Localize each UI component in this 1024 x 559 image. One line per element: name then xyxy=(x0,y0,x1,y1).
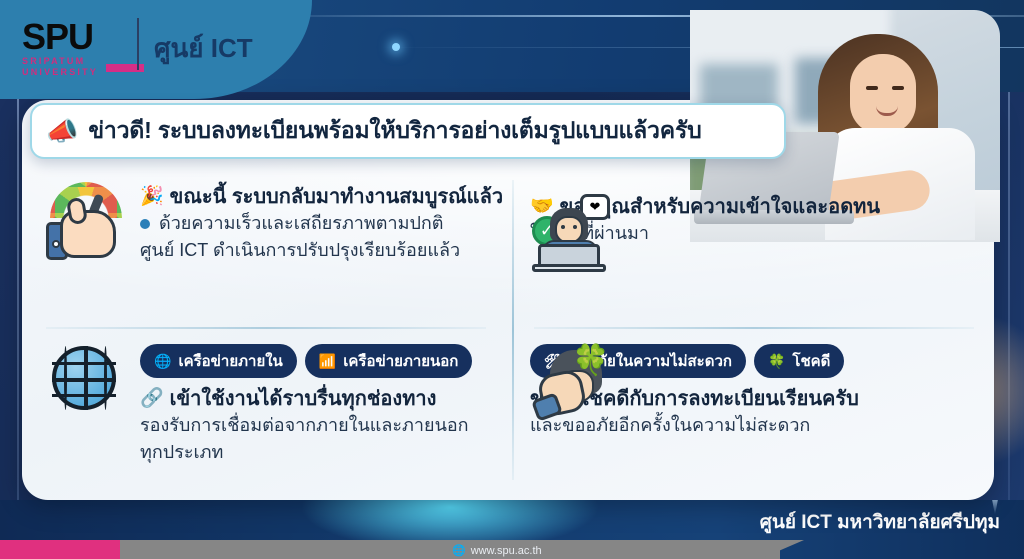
link-icon: 🔗 xyxy=(140,386,164,412)
thumbs-up-gauge-icon xyxy=(46,180,128,268)
megaphone-icon: 📣 xyxy=(46,118,78,144)
photo-face xyxy=(850,54,916,134)
banner-glow-dot xyxy=(392,43,400,51)
quadrant-body: 🌐 เครือข่ายภายใน 📶 เครือข่ายภายนอก 🔗 เข้… xyxy=(140,340,516,466)
horizontal-divider-left xyxy=(46,327,486,329)
quadrant-lead-text: เข้าใช้งานได้ราบรื่นทุกช่องทาง xyxy=(170,386,437,412)
globe-sphere xyxy=(52,346,116,410)
headline-banner: 📣 ข่าวดี! ระบบลงทะเบียนพร้อมให้บริการอย่… xyxy=(30,103,786,159)
quadrant-lead-text: ขณะนี้ ระบบกลับมาทำงานสมบูรณ์แล้ว xyxy=(170,184,503,210)
pill-internal-network-label: เครือข่ายภายใน xyxy=(178,349,282,373)
globe-parallel xyxy=(52,362,116,365)
quadrant-line-2: รองรับการเชื่อมต่อจากภายในและภายนอก xyxy=(140,412,516,439)
person-eyes xyxy=(561,225,565,229)
photo-eye-right xyxy=(892,86,904,90)
poster-canvas: SPU SRIPATUM UNIVERSITY ศูนย์ ICT 📣 ข่าว… xyxy=(0,0,1024,559)
quadrant-line-3: ศูนย์ ICT ดำเนินการปรับปรุงเรียบร้อยแล้ว xyxy=(140,237,506,264)
globe-meridian xyxy=(64,346,67,410)
wifi-pill-icon: 📶 xyxy=(319,354,336,368)
spu-logo: SPU SRIPATUM UNIVERSITY ศูนย์ ICT xyxy=(22,20,98,78)
party-popper-icon: 🎉 xyxy=(140,184,164,210)
bullet-dot-icon xyxy=(140,219,150,229)
footer-band: 🌐 www.spu.ac.th ศูนย์ ICT มหาวิทยาลัยศรี… xyxy=(0,500,1024,559)
pill-external-network[interactable]: 📶 เครือข่ายภายนอก xyxy=(305,344,473,378)
horizontal-divider-right xyxy=(534,327,974,329)
logo-subtitle-line1: SRIPATUM xyxy=(22,56,98,67)
quadrant-network-access: 🌐 เครือข่ายภายใน 📶 เครือข่ายภายนอก 🔗 เข้… xyxy=(46,340,516,466)
pill-external-network-label: เครือข่ายภายนอก xyxy=(343,349,458,373)
facepalm-clover-icon: 🍀 xyxy=(534,344,612,420)
footer-website-label: www.spu.ac.th xyxy=(471,545,542,557)
pill-good-luck[interactable]: 🍀 โชคดี xyxy=(754,344,844,378)
quadrant-line-3: ทุกประเภท xyxy=(140,439,516,466)
cuff-button xyxy=(52,240,60,248)
globe-icon xyxy=(46,340,128,428)
logo-subtitle-line2: UNIVERSITY xyxy=(22,67,98,78)
quadrant-lead-line: 🔗 เข้าใช้งานได้ราบรื่นทุกช่องทาง xyxy=(140,386,516,412)
footer-gray-segment xyxy=(120,540,780,559)
person-face xyxy=(555,216,583,243)
quadrant-body: 🎉 ขณะนี้ ระบบกลับมาทำงานสมบูรณ์แล้ว ด้วย… xyxy=(140,180,506,268)
person-laptop-base xyxy=(532,264,606,272)
photo-eye-left xyxy=(866,86,878,90)
four-leaf-clover-icon: 🍀 xyxy=(572,346,609,376)
footer-pink-segment xyxy=(0,540,120,559)
logo-divider xyxy=(137,18,139,70)
footer-org-label: ศูนย์ ICT มหาวิทยาลัยศรีปทุม xyxy=(760,507,1000,537)
info-grid: 🎉 ขณะนี้ ระบบกลับมาทำงานสมบูรณ์แล้ว ด้วย… xyxy=(22,172,994,497)
quadrant-thank-you: ✓ ❤ 🤝 ขอบคุณสำหรับความเข้าใจและอดทน ในช่… xyxy=(530,190,1000,247)
quadrant-line-2-text: ด้วยความเร็วและเสถียรภาพตามปกติ xyxy=(159,210,443,237)
quadrant-lead-line: 🎉 ขณะนี้ ระบบกลับมาทำงานสมบูรณ์แล้ว xyxy=(140,184,506,210)
logo-wordmark: SPU xyxy=(22,20,98,54)
globe-pill-icon: 🌐 xyxy=(154,354,171,368)
network-pill-row: 🌐 เครือข่ายภายใน 📶 เครือข่ายภายนอก xyxy=(140,344,516,378)
pill-internal-network[interactable]: 🌐 เครือข่ายภายใน xyxy=(140,344,297,378)
globe-icon: 🌐 xyxy=(452,544,466,557)
person-laptop-check-icon: ✓ ❤ xyxy=(532,194,610,274)
footer-website[interactable]: 🌐 www.spu.ac.th xyxy=(452,544,542,557)
pill-good-luck-label: โชคดี xyxy=(792,349,830,373)
logo-subtitle: SRIPATUM UNIVERSITY xyxy=(22,56,98,78)
quadrant-system-restored: 🎉 ขณะนี้ ระบบกลับมาทำงานสมบูรณ์แล้ว ด้วย… xyxy=(46,180,506,268)
quadrant-line-2: ด้วยความเร็วและเสถียรภาพตามปกติ xyxy=(140,210,506,237)
headline-text: ข่าวดี! ระบบลงทะเบียนพร้อมให้บริการอย่าง… xyxy=(88,113,701,149)
clover-pill-icon: 🍀 xyxy=(768,354,785,368)
quadrant-apology-goodluck: 🍀 🛠 ขออภัยในความไม่สะดวก 🍀 โชคดี ขอให้โช… xyxy=(530,340,1000,439)
ict-center-label: ศูนย์ ICT xyxy=(154,28,253,69)
